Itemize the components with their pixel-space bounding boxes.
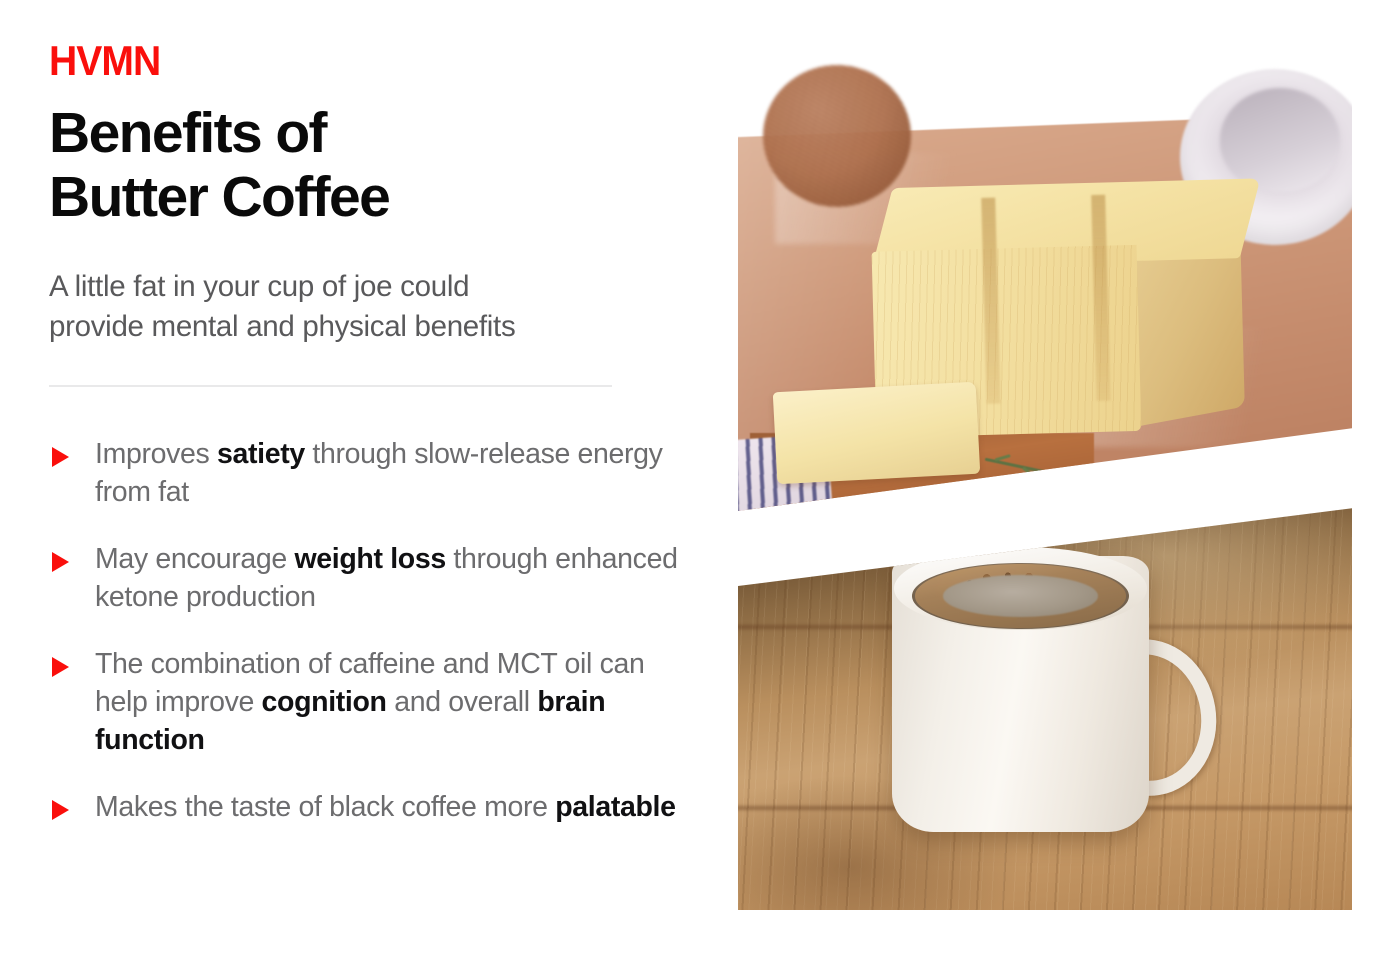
benefit-text-run: May encourage [95, 543, 294, 575]
benefit-text: Improves satiety through slow-release en… [95, 438, 663, 508]
coffee-photo [738, 478, 1352, 910]
benefit-item-satiety: Improves satiety through slow-release en… [49, 435, 689, 511]
benefit-item-weight-loss: May encourage weight loss through enhanc… [49, 540, 689, 616]
text-column: HVMN Benefits of Butter Coffee A little … [49, 40, 689, 930]
butter-photo [738, 51, 1352, 511]
rosemary-sprig [1119, 481, 1199, 492]
benefit-keyword: cognition [262, 686, 387, 718]
benefit-text: The combination of caffeine and MCT oil … [95, 648, 644, 756]
rosemary-sprig [1254, 448, 1324, 461]
benefit-keyword: satiety [217, 438, 305, 470]
photo-column [738, 51, 1352, 910]
page-title: Benefits of Butter Coffee [49, 101, 689, 229]
benefit-text-run: and overall [387, 686, 538, 718]
coffee-mug [892, 556, 1150, 832]
benefit-keyword: palatable [555, 791, 675, 823]
benefit-keyword: weight loss [294, 543, 445, 575]
infographic-canvas: HVMN Benefits of Butter Coffee A little … [0, 0, 1400, 961]
benefit-item-palatable: Makes the taste of black coffee more pal… [49, 788, 689, 826]
coffee-photo-content [738, 478, 1352, 910]
page-subtitle: A little fat in your cup of joe could pr… [49, 267, 689, 347]
triangle-bullet-icon [52, 552, 69, 572]
triangle-bullet-icon [52, 447, 69, 467]
butter-slice [773, 382, 980, 484]
benefit-text-run: Improves [95, 438, 217, 470]
benefit-text: Makes the taste of black coffee more pal… [95, 791, 676, 823]
benefits-list: Improves satiety through slow-release en… [49, 435, 689, 826]
benefit-text: May encourage weight loss through enhanc… [95, 543, 678, 613]
benefit-item-cognition: The combination of caffeine and MCT oil … [49, 645, 689, 759]
triangle-bullet-icon [52, 657, 69, 677]
butter-photo-content [738, 51, 1352, 511]
benefit-text-run: Makes the taste of black coffee more [95, 791, 555, 823]
triangle-bullet-icon [52, 800, 69, 820]
section-divider [49, 385, 612, 387]
hvmn-logo: HVMN [49, 40, 644, 84]
coffee-surface [943, 575, 1098, 616]
